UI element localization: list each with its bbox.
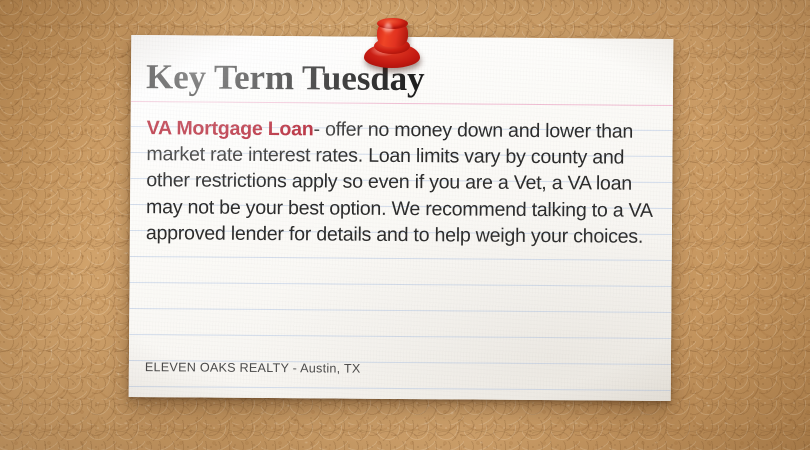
pinned-note: Key Term Tuesday VA Mortgage Loan- offer…: [129, 35, 674, 401]
key-term-label: VA Mortgage Loan: [147, 117, 314, 140]
note-paper: Key Term Tuesday VA Mortgage Loan- offer…: [129, 35, 674, 401]
pushpin-icon[interactable]: [361, 17, 423, 69]
note-footer-attribution: ELEVEN OAKS REALTY - Austin, TX: [145, 360, 361, 376]
note-content: Key Term Tuesday VA Mortgage Loan- offer…: [144, 35, 660, 401]
pushpin-cap-top: [377, 18, 408, 29]
pushpin-highlight: [384, 23, 392, 35]
note-body-text: VA Mortgage Loan- offer no money down an…: [146, 115, 659, 250]
cork-board-background: Key Term Tuesday VA Mortgage Loan- offer…: [0, 0, 810, 450]
